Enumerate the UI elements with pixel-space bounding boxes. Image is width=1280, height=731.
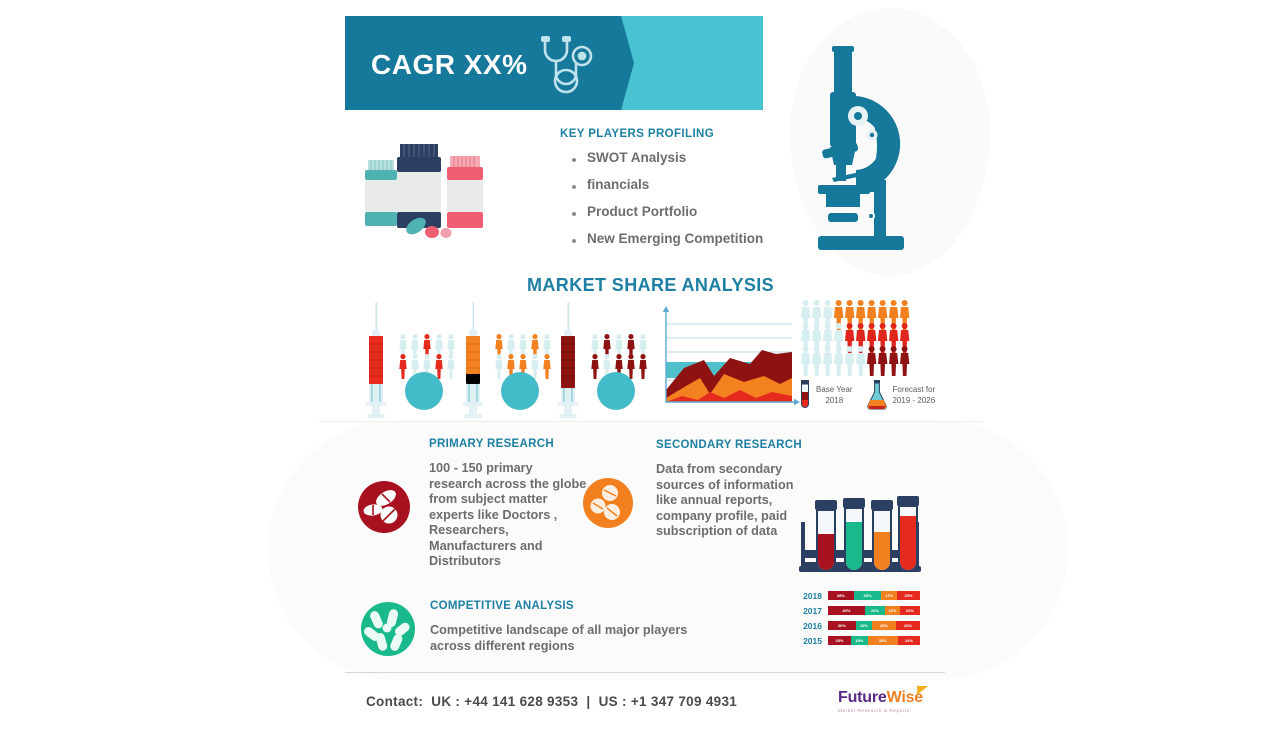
bar-segment: 33% <box>868 636 898 645</box>
bullet-icon <box>572 212 576 216</box>
list-item: Product Portfolio <box>572 204 832 231</box>
bar-segment: 30% <box>854 591 882 600</box>
bar-segment: 18% <box>856 621 873 630</box>
legend-label-line2: 2018 <box>816 395 852 406</box>
cagr-banner: CAGR XX% <box>345 16 763 110</box>
bar-segment: 18% <box>851 636 868 645</box>
bar-segment: 22% <box>865 606 885 615</box>
bar-segment: 28% <box>828 591 854 600</box>
bullet-icon <box>572 239 576 243</box>
test-tube-rack-icon <box>797 492 923 578</box>
list-item-label: Product Portfolio <box>587 204 697 219</box>
bar-segment: 26% <box>896 621 920 630</box>
table-row: 2015 25% 18% 33% 24% <box>798 634 920 647</box>
footer-divider <box>345 672 945 673</box>
bar-year-label: 2015 <box>798 636 822 646</box>
secondary-research-heading: SECONDARY RESEARCH <box>656 439 802 451</box>
pill-bottles-icon <box>360 140 490 245</box>
futurewise-logo[interactable]: FutureWise Market Research & Reports <box>838 689 923 713</box>
list-item: financials <box>572 177 832 204</box>
market-share-legend: Base Year 2018 Forecast for 2019 - 2026 <box>798 380 935 410</box>
contact-line: Contact: UK : +44 141 628 9353 | US : +1… <box>366 694 737 709</box>
list-item: New Emerging Competition <box>572 231 832 258</box>
bar-segment: 17% <box>881 591 897 600</box>
infographic-page: CAGR XX% KEY PLAYERS PROFILING SWOT Anal… <box>0 0 1280 731</box>
bar-track: 40% 22% 16% 22% <box>828 606 920 615</box>
bar-track: 28% 30% 17% 25% <box>828 591 920 600</box>
legend-item-forecast: Forecast for 2019 - 2026 <box>892 384 935 406</box>
flask-icon <box>866 380 888 410</box>
microscope-icon <box>808 20 918 260</box>
year-stacked-bar-chart: 2018 28% 30% 17% 25% 2017 40% 22% 16% 22… <box>798 589 920 649</box>
competitive-analysis-body: Competitive landscape of all major playe… <box>430 623 730 654</box>
primary-research-body: 100 - 150 primary research across the gl… <box>429 461 589 570</box>
list-item: SWOT Analysis <box>572 150 832 177</box>
bar-segment: 24% <box>898 636 920 645</box>
test-tube-icon <box>798 380 812 410</box>
table-row: 2016 30% 18% 26% 26% <box>798 619 920 632</box>
list-item-label: financials <box>587 177 649 192</box>
bar-segment: 16% <box>885 606 900 615</box>
legend-label-line1: Base Year <box>816 385 852 394</box>
contact-separator: | <box>586 694 590 709</box>
cagr-title: CAGR XX% <box>371 49 527 81</box>
competitive-analysis-heading: COMPETITIVE ANALYSIS <box>430 600 574 612</box>
section-divider-top <box>318 421 982 422</box>
legend-item-base-year: Base Year 2018 <box>816 384 852 406</box>
table-row: 2018 28% 30% 17% 25% <box>798 589 920 602</box>
bar-year-label: 2016 <box>798 621 822 631</box>
bar-segment: 22% <box>900 606 920 615</box>
table-row: 2017 40% 22% 16% 22% <box>798 604 920 617</box>
capsules-circle-icon <box>361 602 415 656</box>
primary-research-heading: PRIMARY RESEARCH <box>429 438 554 450</box>
logo-tagline: Market Research & Reports <box>838 708 923 713</box>
bar-segment: 30% <box>828 621 856 630</box>
list-item-label: SWOT Analysis <box>587 150 686 165</box>
market-share-heading: MARKET SHARE ANALYSIS <box>527 275 774 296</box>
legend-label-line2: 2019 - 2026 <box>892 395 935 406</box>
key-players-heading: KEY PLAYERS PROFILING <box>560 128 714 140</box>
bar-year-label: 2018 <box>798 591 822 601</box>
bullet-icon <box>572 185 576 189</box>
legend-label-line1: Forecast for <box>892 385 935 394</box>
logo-flag-icon <box>917 686 928 695</box>
pills-circle-icon-primary <box>358 481 410 533</box>
people-grid-icon <box>798 298 916 378</box>
bar-segment: 25% <box>897 591 920 600</box>
secondary-research-body: Data from secondary sources of informati… <box>656 462 806 540</box>
area-chart-icon <box>652 302 800 414</box>
contact-label: Contact: <box>366 694 423 709</box>
syringes-group <box>358 300 648 418</box>
bar-segment: 25% <box>828 636 851 645</box>
pills-circle-icon-secondary <box>583 478 633 528</box>
logo-part1: Future <box>838 689 887 706</box>
bar-track: 30% 18% 26% 26% <box>828 621 920 630</box>
bar-track: 25% 18% 33% 24% <box>828 636 920 645</box>
bar-year-label: 2017 <box>798 606 822 616</box>
key-players-list: SWOT Analysis financials Product Portfol… <box>572 150 832 258</box>
contact-uk: UK : +44 141 628 9353 <box>431 694 578 709</box>
list-item-label: New Emerging Competition <box>587 231 763 246</box>
bar-segment: 40% <box>828 606 865 615</box>
bar-segment: 26% <box>872 621 896 630</box>
stethoscope-icon <box>535 34 603 96</box>
bullet-icon <box>572 158 576 162</box>
contact-us: US : +1 347 709 4931 <box>599 694 737 709</box>
logo-wordmark: FutureWise <box>838 689 923 707</box>
